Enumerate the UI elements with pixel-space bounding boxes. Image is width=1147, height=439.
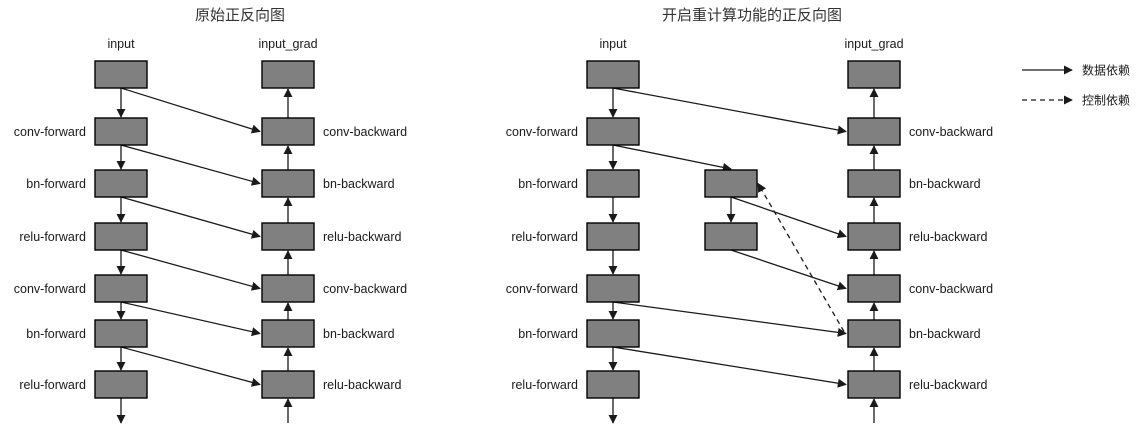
backward-node-label: conv-backward [909, 125, 993, 139]
backward-node-label: relu-backward [909, 378, 988, 392]
column-header-input: input [107, 37, 135, 51]
forward-node-label: bn-forward [518, 177, 578, 191]
data-dependency-edge [731, 250, 846, 289]
forward-node[interactable] [587, 223, 639, 250]
backward-node[interactable] [848, 61, 900, 88]
backward-node-label: relu-backward [909, 230, 988, 244]
backward-node[interactable] [848, 118, 900, 145]
backward-node[interactable] [848, 275, 900, 302]
backward-node[interactable] [262, 223, 314, 250]
backward-node[interactable] [848, 170, 900, 197]
forward-node[interactable] [95, 170, 147, 197]
backward-node[interactable] [848, 223, 900, 250]
backward-node-label: conv-backward [909, 282, 993, 296]
backward-node[interactable] [848, 371, 900, 398]
forward-node-label: relu-forward [511, 230, 578, 244]
diagram-canvas: 原始正反向图inputinput_gradconv-forwardbn-forw… [0, 0, 1147, 439]
data-dependency-edge [613, 302, 846, 334]
control-dependency-edge [758, 184, 844, 332]
backward-node[interactable] [262, 118, 314, 145]
backward-node-label: bn-backward [323, 327, 395, 341]
backward-node-label: bn-backward [323, 177, 395, 191]
forward-node[interactable] [587, 170, 639, 197]
recompute-node[interactable] [705, 170, 757, 197]
forward-node[interactable] [95, 320, 147, 347]
data-dependency-edge [613, 145, 731, 169]
backward-node-label: conv-backward [323, 125, 407, 139]
column-header-input: input [599, 37, 627, 51]
forward-node-label: relu-forward [19, 378, 86, 392]
forward-node[interactable] [587, 118, 639, 145]
forward-node-label: conv-forward [506, 282, 578, 296]
data-dependency-edge [613, 347, 846, 385]
forward-node-label: conv-forward [14, 282, 86, 296]
backward-node-label: bn-backward [909, 327, 981, 341]
forward-node[interactable] [587, 61, 639, 88]
forward-node-label: bn-forward [518, 327, 578, 341]
forward-node[interactable] [587, 371, 639, 398]
backward-node-label: relu-backward [323, 230, 402, 244]
backward-node[interactable] [848, 320, 900, 347]
column-header-input-grad: input_grad [258, 37, 317, 51]
data-dependency-edge [613, 88, 846, 132]
forward-node[interactable] [95, 61, 147, 88]
panel-title-original: 原始正反向图 [195, 6, 285, 24]
backward-node[interactable] [262, 170, 314, 197]
forward-node-label: bn-forward [26, 177, 86, 191]
backward-node[interactable] [262, 61, 314, 88]
panel-original: 原始正反向图inputinput_gradconv-forwardbn-forw… [14, 6, 407, 423]
panel-recompute: 开启重计算功能的正反向图inputinput_gradconv-forwardb… [506, 6, 993, 423]
backward-node[interactable] [262, 320, 314, 347]
backward-node-label: bn-backward [909, 177, 981, 191]
forward-backward-graph-svg: 原始正反向图inputinput_gradconv-forwardbn-forw… [0, 0, 1147, 439]
forward-node[interactable] [587, 320, 639, 347]
recompute-node[interactable] [705, 223, 757, 250]
forward-node[interactable] [95, 371, 147, 398]
forward-node-label: relu-forward [511, 378, 578, 392]
legend-label-1: 控制依赖 [1082, 93, 1130, 108]
forward-node[interactable] [95, 118, 147, 145]
legend-label-0: 数据依赖 [1082, 63, 1130, 78]
backward-node-label: relu-backward [323, 378, 402, 392]
forward-node[interactable] [95, 223, 147, 250]
forward-node-label: conv-forward [14, 125, 86, 139]
forward-node-label: conv-forward [506, 125, 578, 139]
forward-node[interactable] [95, 275, 147, 302]
panel-title-recompute: 开启重计算功能的正反向图 [662, 6, 842, 24]
forward-node-label: bn-forward [26, 327, 86, 341]
forward-node-label: relu-forward [19, 230, 86, 244]
backward-node[interactable] [262, 275, 314, 302]
column-header-input-grad: input_grad [844, 37, 903, 51]
forward-node[interactable] [587, 275, 639, 302]
backward-node-label: conv-backward [323, 282, 407, 296]
legend: 数据依赖控制依赖 [1022, 63, 1130, 108]
backward-node[interactable] [262, 371, 314, 398]
